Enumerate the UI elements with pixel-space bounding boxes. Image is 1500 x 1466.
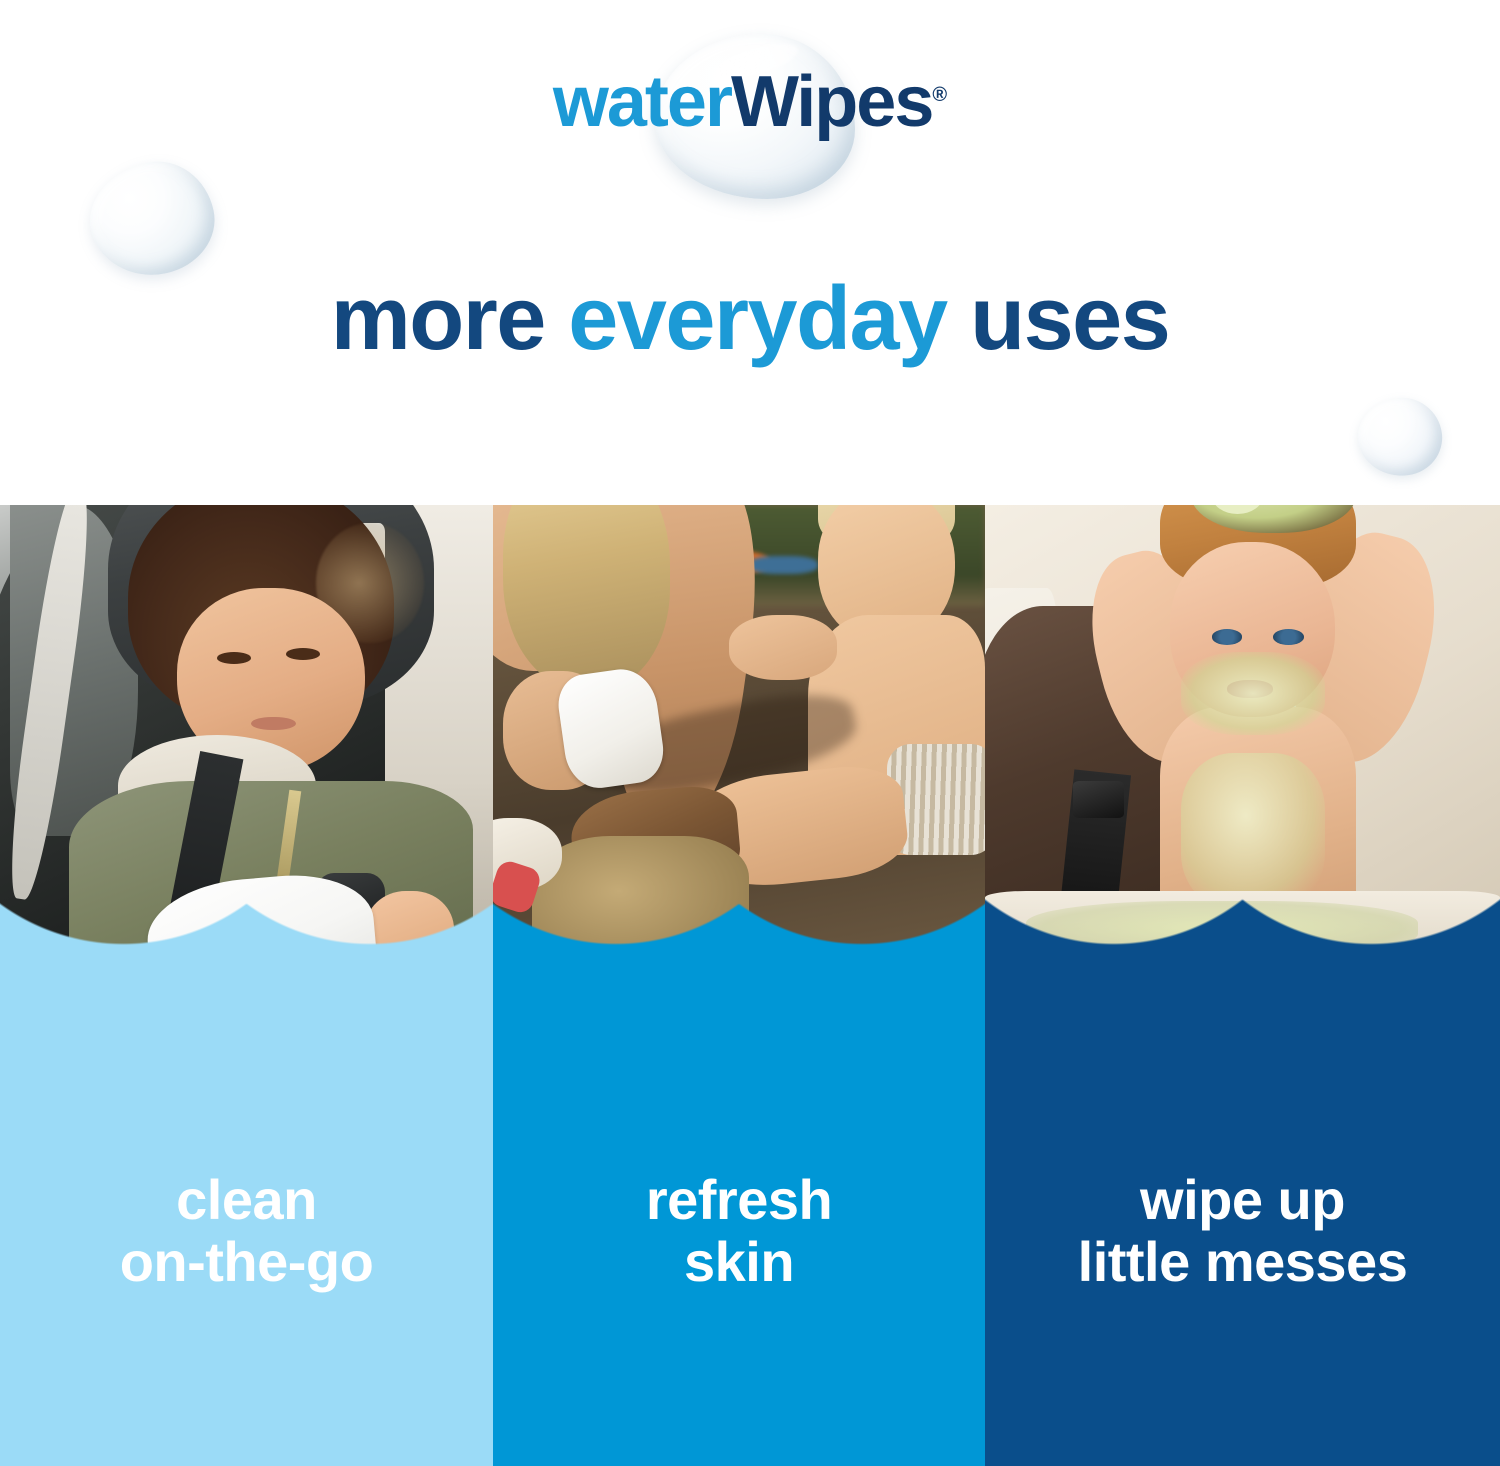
caption-wipe-up-little-messes: wipe up little messes [985, 1169, 1500, 1294]
photo-clean-on-the-go [0, 505, 493, 965]
use-case-columns: clean on-the-go [0, 505, 1500, 1466]
caption-line-2: little messes [985, 1231, 1500, 1294]
logo-word-water: water [553, 62, 731, 142]
caption-line-1: clean [176, 1168, 317, 1231]
caption-line-2: skin [493, 1231, 985, 1294]
registered-trademark-icon: ® [932, 84, 947, 106]
caption-line-1: wipe up [1140, 1168, 1345, 1231]
header-panel: waterWipes® more everyday uses [0, 0, 1500, 505]
headline-segment-uses: uses [947, 269, 1170, 369]
caption-refresh-skin: refresh skin [493, 1169, 985, 1294]
caption-line-2: on-the-go [0, 1231, 493, 1294]
headline-segment-everyday: everyday [568, 269, 946, 369]
headline-segment-more: more [331, 269, 569, 369]
use-case-column-clean-on-the-go[interactable]: clean on-the-go [0, 505, 493, 1466]
photo-image-messy-baby [985, 505, 1500, 965]
brand-logo[interactable]: waterWipes® [0, 18, 1500, 218]
photo-image-beach-foot [493, 505, 985, 965]
photo-wipe-up-little-messes [985, 505, 1500, 965]
caption-clean-on-the-go: clean on-the-go [0, 1169, 493, 1294]
caption-line-1: refresh [646, 1168, 832, 1231]
brand-logo-text: waterWipes® [0, 66, 1500, 138]
photo-refresh-skin [493, 505, 985, 965]
use-case-column-refresh-skin[interactable]: refresh skin [493, 505, 985, 1466]
page-title: more everyday uses [0, 272, 1500, 367]
photo-image-car-seat [0, 505, 493, 965]
water-droplet-icon-right [1353, 393, 1447, 482]
logo-word-wipes: Wipes [731, 62, 932, 142]
use-case-column-wipe-up-little-messes[interactable]: wipe up little messes [985, 505, 1500, 1466]
